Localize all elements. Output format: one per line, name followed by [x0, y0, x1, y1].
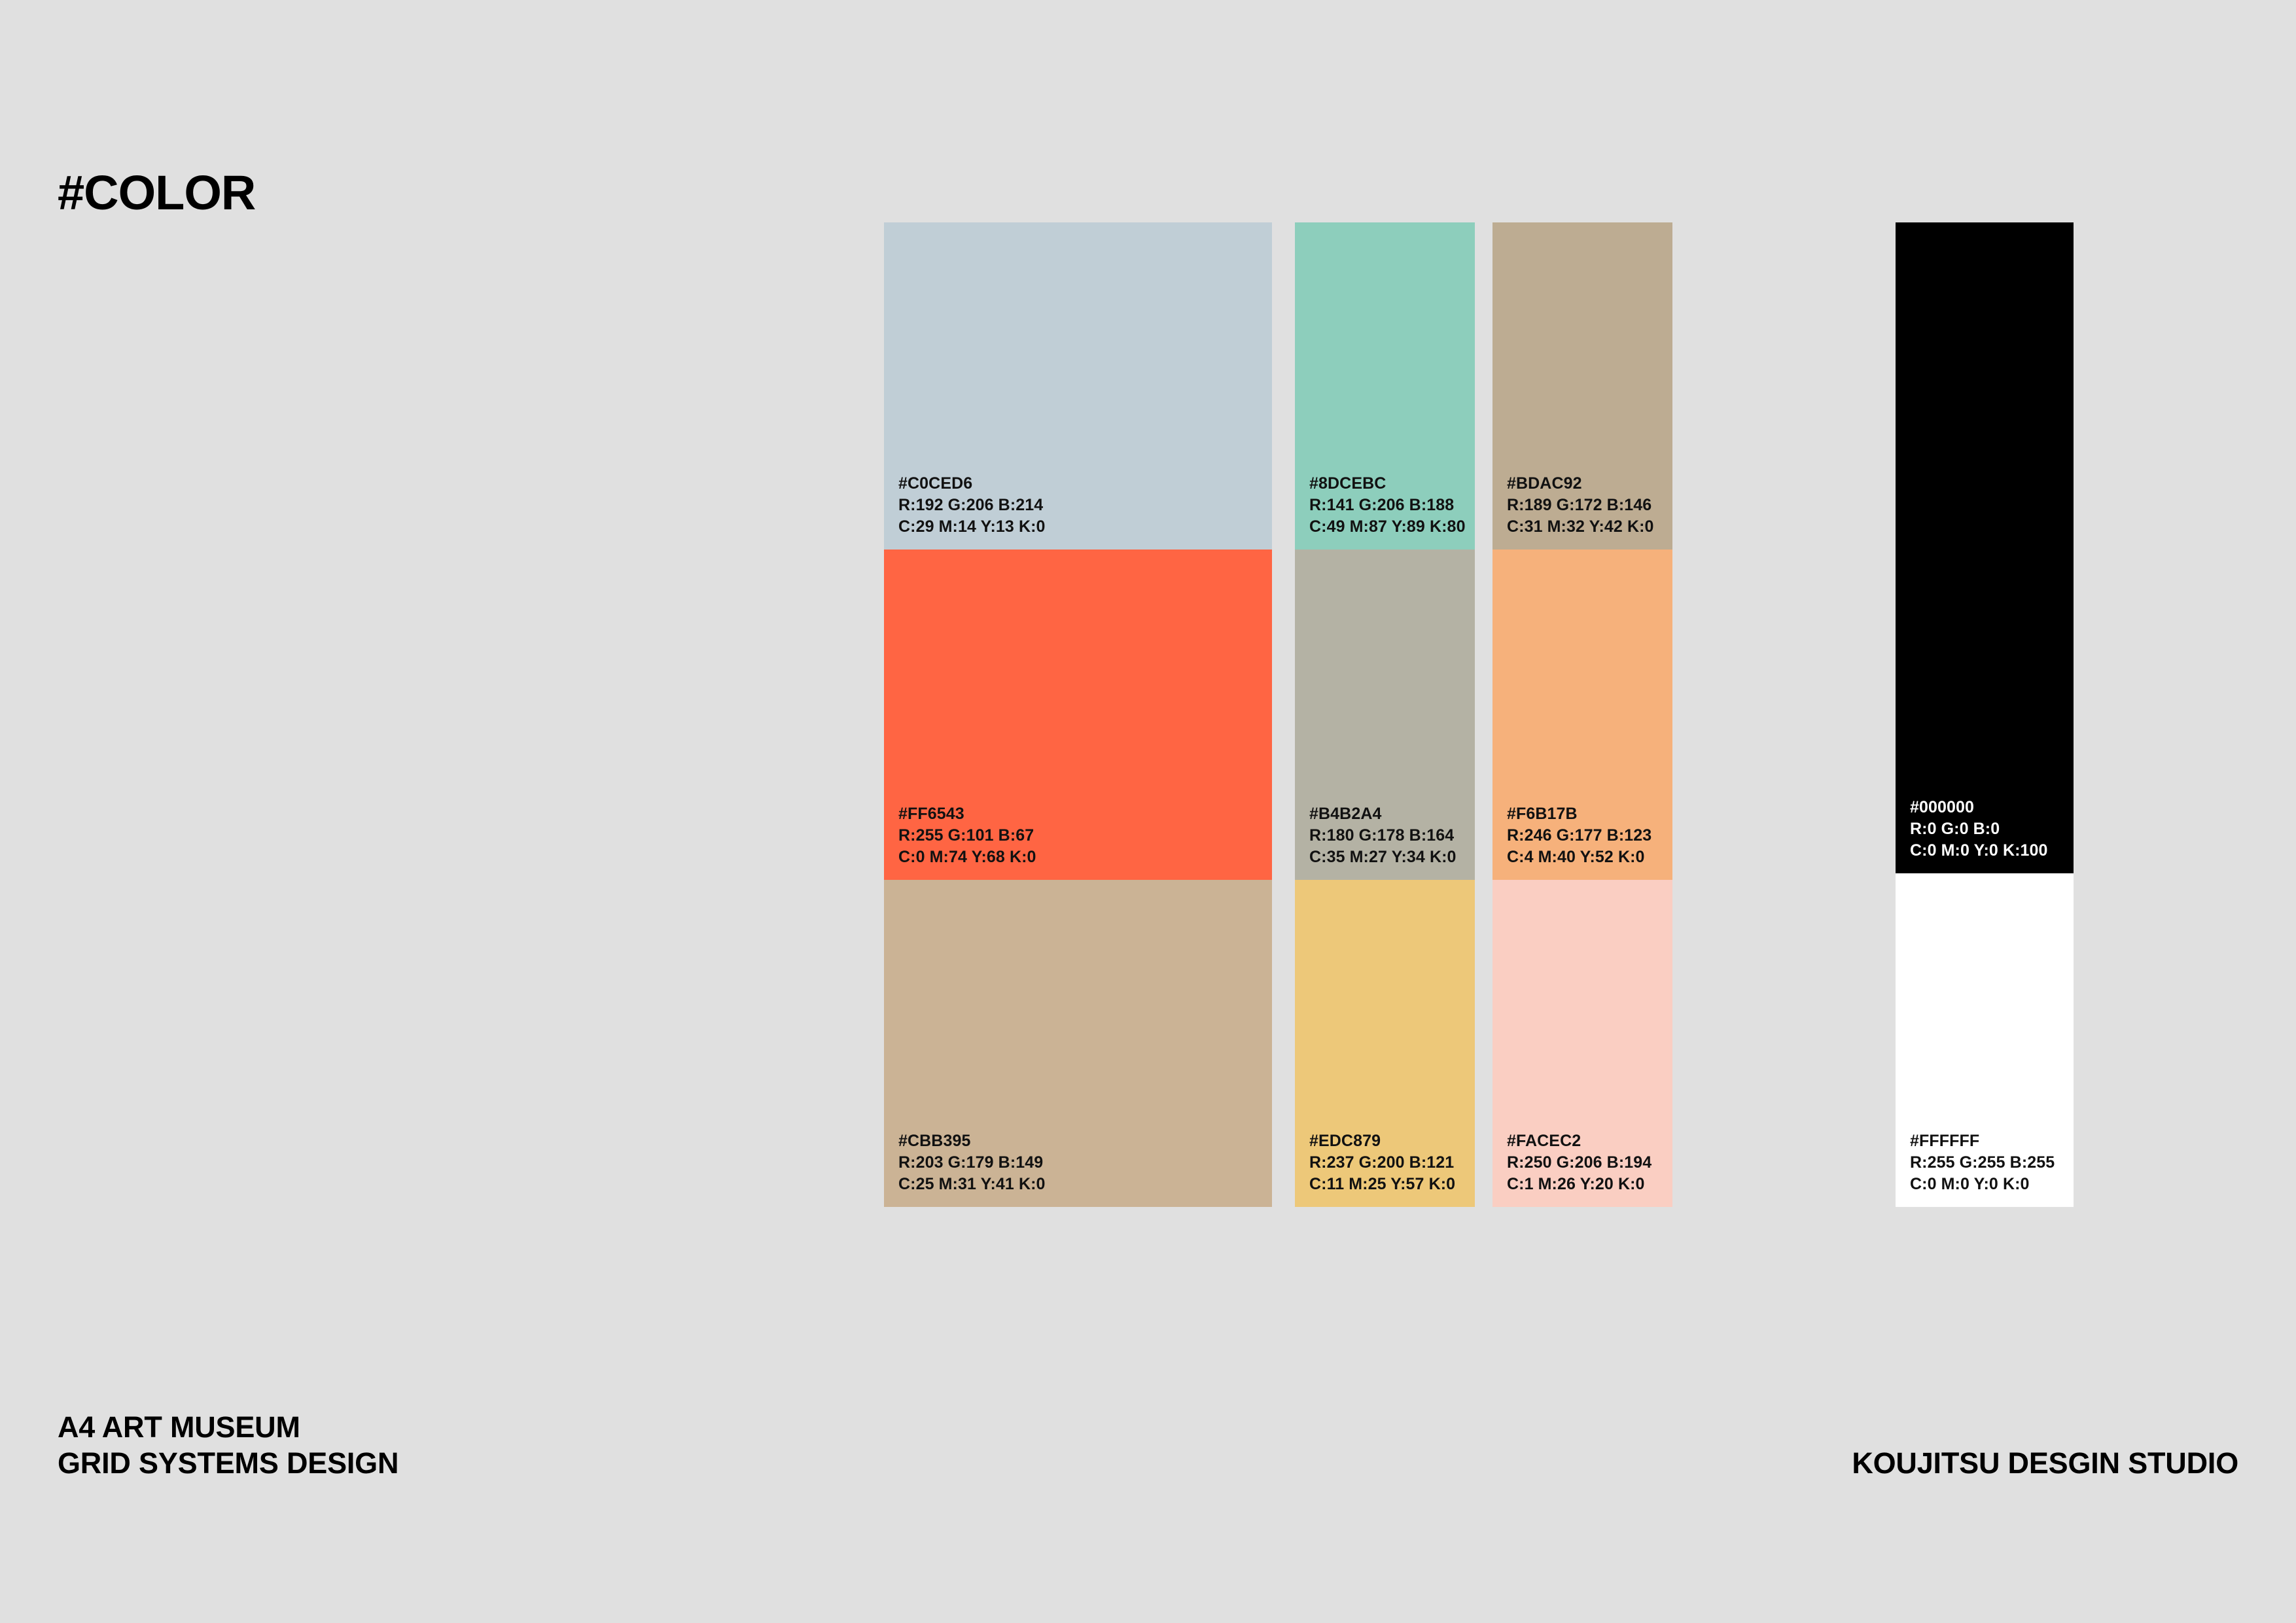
- color-palette: #C0CED6 R:192 G:206 B:214 C:29 M:14 Y:13…: [0, 0, 2296, 1623]
- footer-right: KOUJITSU DESGIN STUDIO: [1852, 1446, 2238, 1482]
- swatch-rgb: R:246 G:177 B:123: [1507, 825, 1651, 846]
- swatch-info: #000000 R:0 G:0 B:0 C:0 M:0 Y:0 K:100: [1910, 797, 2048, 862]
- swatch-info: #F6B17B R:246 G:177 B:123 C:4 M:40 Y:52 …: [1507, 803, 1651, 868]
- swatch-cmyk: C:49 M:87 Y:89 K:80: [1309, 516, 1466, 538]
- swatch-hex: #FACEC2: [1507, 1130, 1651, 1152]
- swatch-cmyk: C:1 M:26 Y:20 K:0: [1507, 1174, 1651, 1195]
- swatch-hex: #CBB395: [898, 1130, 1046, 1152]
- swatch-info: #FACEC2 R:250 G:206 B:194 C:1 M:26 Y:20 …: [1507, 1130, 1651, 1195]
- swatch-rgb: R:255 G:101 B:67: [898, 825, 1036, 846]
- swatch-cmyk: C:0 M:0 Y:0 K:100: [1910, 840, 2048, 862]
- swatch[interactable]: #FFFFFF R:255 G:255 B:255 C:0 M:0 Y:0 K:…: [1896, 873, 2074, 1207]
- swatch-column-3: #BDAC92 R:189 G:172 B:146 C:31 M:32 Y:42…: [1492, 222, 1672, 1207]
- swatch[interactable]: #EDC879 R:237 G:200 B:121 C:11 M:25 Y:57…: [1295, 880, 1475, 1207]
- swatch[interactable]: #C0CED6 R:192 G:206 B:214 C:29 M:14 Y:13…: [884, 222, 1272, 550]
- swatch-rgb: R:250 G:206 B:194: [1507, 1152, 1651, 1174]
- swatch-cmyk: C:31 M:32 Y:42 K:0: [1507, 516, 1654, 538]
- swatch-info: #EDC879 R:237 G:200 B:121 C:11 M:25 Y:57…: [1309, 1130, 1455, 1195]
- swatch-rgb: R:141 G:206 B:188: [1309, 495, 1466, 516]
- swatch[interactable]: #000000 R:0 G:0 B:0 C:0 M:0 Y:0 K:100: [1896, 222, 2074, 873]
- swatch-rgb: R:192 G:206 B:214: [898, 495, 1046, 516]
- swatch-cmyk: C:25 M:31 Y:41 K:0: [898, 1174, 1046, 1195]
- swatch[interactable]: #B4B2A4 R:180 G:178 B:164 C:35 M:27 Y:34…: [1295, 550, 1475, 880]
- swatch-info: #FFFFFF R:255 G:255 B:255 C:0 M:0 Y:0 K:…: [1910, 1130, 2055, 1195]
- swatch-hex: #8DCEBC: [1309, 473, 1466, 495]
- swatch-rgb: R:203 G:179 B:149: [898, 1152, 1046, 1174]
- swatch-hex: #C0CED6: [898, 473, 1046, 495]
- swatch-cmyk: C:29 M:14 Y:13 K:0: [898, 516, 1046, 538]
- swatch-rgb: R:255 G:255 B:255: [1910, 1152, 2055, 1174]
- swatch-info: #FF6543 R:255 G:101 B:67 C:0 M:74 Y:68 K…: [898, 803, 1036, 868]
- swatch[interactable]: #FF6543 R:255 G:101 B:67 C:0 M:74 Y:68 K…: [884, 550, 1272, 880]
- swatch[interactable]: #BDAC92 R:189 G:172 B:146 C:31 M:32 Y:42…: [1492, 222, 1672, 550]
- swatch-rgb: R:189 G:172 B:146: [1507, 495, 1654, 516]
- swatch-hex: #BDAC92: [1507, 473, 1654, 495]
- swatch-rgb: R:237 G:200 B:121: [1309, 1152, 1455, 1174]
- swatch-info: #BDAC92 R:189 G:172 B:146 C:31 M:32 Y:42…: [1507, 473, 1654, 538]
- swatch[interactable]: #F6B17B R:246 G:177 B:123 C:4 M:40 Y:52 …: [1492, 550, 1672, 880]
- swatch-info: #CBB395 R:203 G:179 B:149 C:25 M:31 Y:41…: [898, 1130, 1046, 1195]
- swatch-info: #8DCEBC R:141 G:206 B:188 C:49 M:87 Y:89…: [1309, 473, 1466, 538]
- swatch-cmyk: C:0 M:0 Y:0 K:0: [1910, 1174, 2055, 1195]
- swatch[interactable]: #FACEC2 R:250 G:206 B:194 C:1 M:26 Y:20 …: [1492, 880, 1672, 1207]
- swatch-column-4: #000000 R:0 G:0 B:0 C:0 M:0 Y:0 K:100 #F…: [1896, 222, 2074, 1207]
- swatch-cmyk: C:0 M:74 Y:68 K:0: [898, 846, 1036, 868]
- footer-left-line-1: A4 ART MUSEUM: [58, 1410, 398, 1446]
- swatch-column-1: #C0CED6 R:192 G:206 B:214 C:29 M:14 Y:13…: [884, 222, 1272, 1207]
- swatch-hex: #F6B17B: [1507, 803, 1651, 825]
- swatch-cmyk: C:35 M:27 Y:34 K:0: [1309, 846, 1457, 868]
- swatch-info: #C0CED6 R:192 G:206 B:214 C:29 M:14 Y:13…: [898, 473, 1046, 538]
- swatch-cmyk: C:11 M:25 Y:57 K:0: [1309, 1174, 1455, 1195]
- footer-left-line-2: GRID SYSTEMS DESIGN: [58, 1446, 398, 1482]
- swatch-hex: #FFFFFF: [1910, 1130, 2055, 1152]
- swatch-hex: #EDC879: [1309, 1130, 1455, 1152]
- swatch-hex: #FF6543: [898, 803, 1036, 825]
- swatch[interactable]: #CBB395 R:203 G:179 B:149 C:25 M:31 Y:41…: [884, 880, 1272, 1207]
- swatch[interactable]: #8DCEBC R:141 G:206 B:188 C:49 M:87 Y:89…: [1295, 222, 1475, 550]
- swatch-hex: #B4B2A4: [1309, 803, 1457, 825]
- swatch-hex: #000000: [1910, 797, 2048, 818]
- swatch-cmyk: C:4 M:40 Y:52 K:0: [1507, 846, 1651, 868]
- swatch-rgb: R:180 G:178 B:164: [1309, 825, 1457, 846]
- swatch-info: #B4B2A4 R:180 G:178 B:164 C:35 M:27 Y:34…: [1309, 803, 1457, 868]
- footer-left: A4 ART MUSEUM GRID SYSTEMS DESIGN: [58, 1410, 398, 1482]
- swatch-rgb: R:0 G:0 B:0: [1910, 818, 2048, 840]
- swatch-column-2: #8DCEBC R:141 G:206 B:188 C:49 M:87 Y:89…: [1295, 222, 1475, 1207]
